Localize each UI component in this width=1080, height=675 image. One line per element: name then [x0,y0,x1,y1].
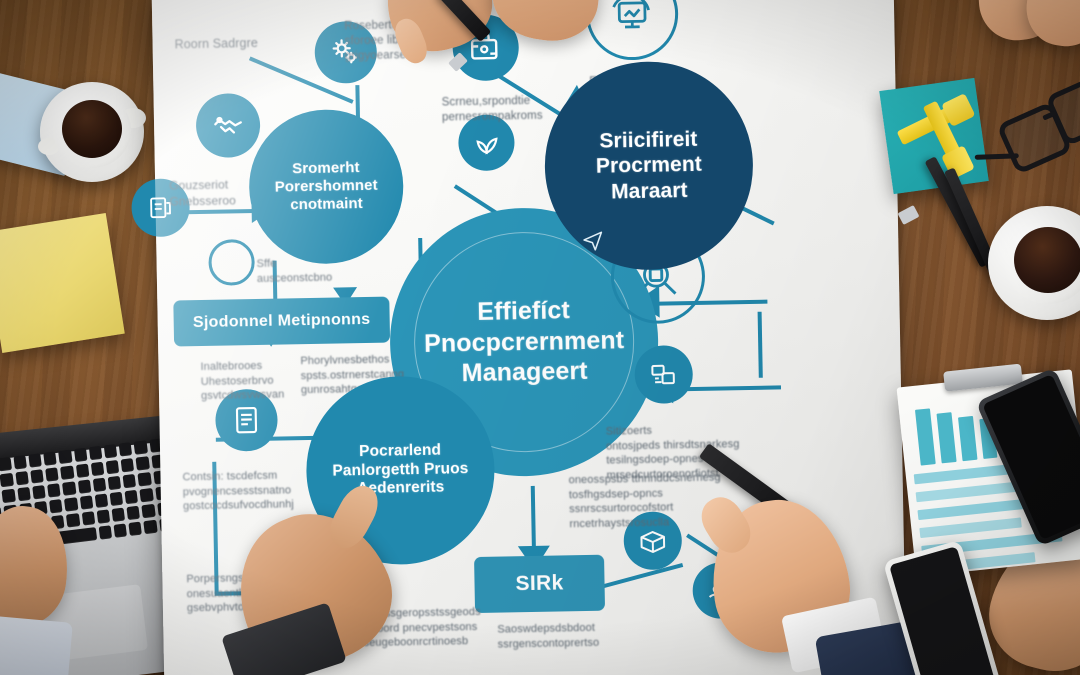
node-contract-line2: Panlorgetth Pruos [332,460,468,481]
node-strategic-line3: Maraart [596,178,702,206]
yellow-notepad [0,213,125,353]
node-strategic-line1: Sriicifireit [595,126,701,154]
node-contract-line1: Pocrarlend [332,441,468,462]
coffee-cup-right [988,206,1080,320]
node-strategic-line2: Procrment [596,152,702,180]
coffee [1014,227,1080,293]
screenshot-root: Effiefíct Pnocpcrernment Manageert Sriic… [0,0,1080,675]
shirt-cuff [0,613,73,675]
coffee [62,100,122,158]
coffee-cup-left [40,82,144,182]
